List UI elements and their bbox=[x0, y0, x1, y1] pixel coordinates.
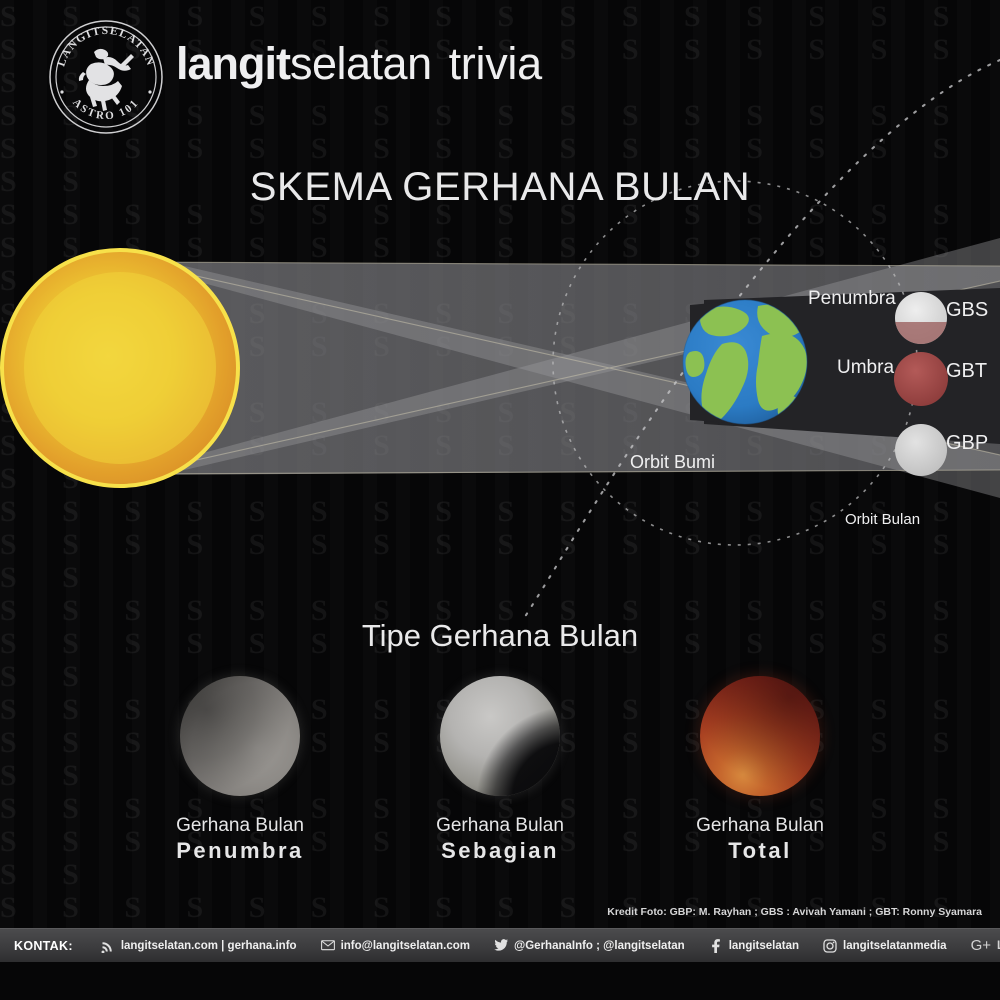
brand-wordmark: langitselatantrivia bbox=[176, 38, 542, 90]
instagram-icon bbox=[823, 939, 837, 953]
moon-image-penumbral bbox=[180, 676, 300, 796]
footer-item-instagram[interactable]: langitselatanmedia bbox=[811, 939, 959, 953]
label-penumbra: Penumbra bbox=[808, 288, 896, 310]
label-gbt: GBT bbox=[946, 360, 987, 383]
header: LANGITSELATAN ASTRO 101 langitselatant bbox=[0, 0, 1000, 150]
caption-line1: Gerhana Bulan bbox=[370, 815, 630, 837]
caption-line2: Penumbra bbox=[110, 838, 370, 864]
centaur-icon bbox=[79, 49, 134, 111]
googleplus-icon: G+ bbox=[971, 937, 991, 954]
eclipse-type-partial: Gerhana Bulan Sebagian bbox=[370, 676, 630, 876]
footer-item-website[interactable]: langitselatan.com | gerhana.info bbox=[89, 939, 309, 953]
caption-line2: Sebagian bbox=[370, 838, 630, 864]
label-gbs: GBS bbox=[946, 299, 988, 322]
label-orbit-bulan: Orbit Bulan bbox=[845, 511, 920, 528]
envelope-icon bbox=[321, 939, 335, 953]
rss-icon bbox=[101, 939, 115, 953]
caption-penumbral: Gerhana Bulan Penumbra bbox=[110, 815, 370, 864]
sun bbox=[2, 250, 238, 486]
footer-website-text: langitselatan.com | gerhana.info bbox=[121, 940, 297, 952]
brand-langit: langit bbox=[176, 38, 290, 89]
footer-item-email[interactable]: info@langitselatan.com bbox=[309, 939, 482, 953]
langitselatan-seal-logo[interactable]: LANGITSELATAN ASTRO 101 bbox=[47, 18, 165, 136]
photo-credit: Kredit Foto: GBP: M. Rayhan ; GBS : Aviv… bbox=[607, 906, 982, 918]
scheme-title: SKEMA GERHANA BULAN bbox=[0, 165, 1000, 210]
moon-gbt bbox=[894, 352, 948, 406]
caption-total: Gerhana Bulan Total bbox=[630, 815, 890, 864]
moon-image-partial bbox=[440, 676, 560, 796]
footer-kontak-label: KONTAK: bbox=[0, 939, 89, 953]
caption-line1: Gerhana Bulan bbox=[630, 815, 890, 837]
caption-partial: Gerhana Bulan Sebagian bbox=[370, 815, 630, 864]
bottom-black-strip bbox=[0, 961, 1000, 1000]
infographic-page: S S S S S S S S S S S S S S S S S S S S … bbox=[0, 0, 1000, 1000]
eclipse-types-row: Gerhana Bulan Penumbra Gerhana Bulan Seb… bbox=[0, 676, 1000, 876]
label-orbit-bumi: Orbit Bumi bbox=[630, 452, 715, 473]
brand-trivia: trivia bbox=[449, 38, 542, 89]
footer-twitter-text: @GerhanaInfo ; @langitselatan bbox=[514, 940, 685, 952]
label-umbra: Umbra bbox=[837, 357, 894, 379]
footer-item-googleplus[interactable]: G+ LangitselatanMedia bbox=[959, 937, 1000, 954]
footer-item-facebook[interactable]: langitselatan bbox=[697, 939, 811, 953]
caption-line1: Gerhana Bulan bbox=[110, 815, 370, 837]
caption-line2: Total bbox=[630, 838, 890, 864]
footer-facebook-text: langitselatan bbox=[729, 940, 799, 952]
eclipse-type-penumbral: Gerhana Bulan Penumbra bbox=[110, 676, 370, 876]
eclipse-type-total: Gerhana Bulan Total bbox=[630, 676, 890, 876]
contact-footer: KONTAK: langitselatan.com | gerhana.info… bbox=[0, 928, 1000, 962]
moon-gbp bbox=[895, 424, 947, 476]
moon-image-total bbox=[700, 676, 820, 796]
types-section-title: Tipe Gerhana Bulan bbox=[0, 618, 1000, 654]
label-gbp: GBP bbox=[946, 432, 988, 455]
footer-instagram-text: langitselatanmedia bbox=[843, 940, 947, 952]
facebook-icon bbox=[709, 939, 723, 953]
twitter-icon bbox=[494, 939, 508, 953]
footer-email-text: info@langitselatan.com bbox=[341, 940, 470, 952]
brand-selatan: selatan bbox=[290, 38, 432, 89]
footer-item-twitter[interactable]: @GerhanaInfo ; @langitselatan bbox=[482, 939, 697, 953]
